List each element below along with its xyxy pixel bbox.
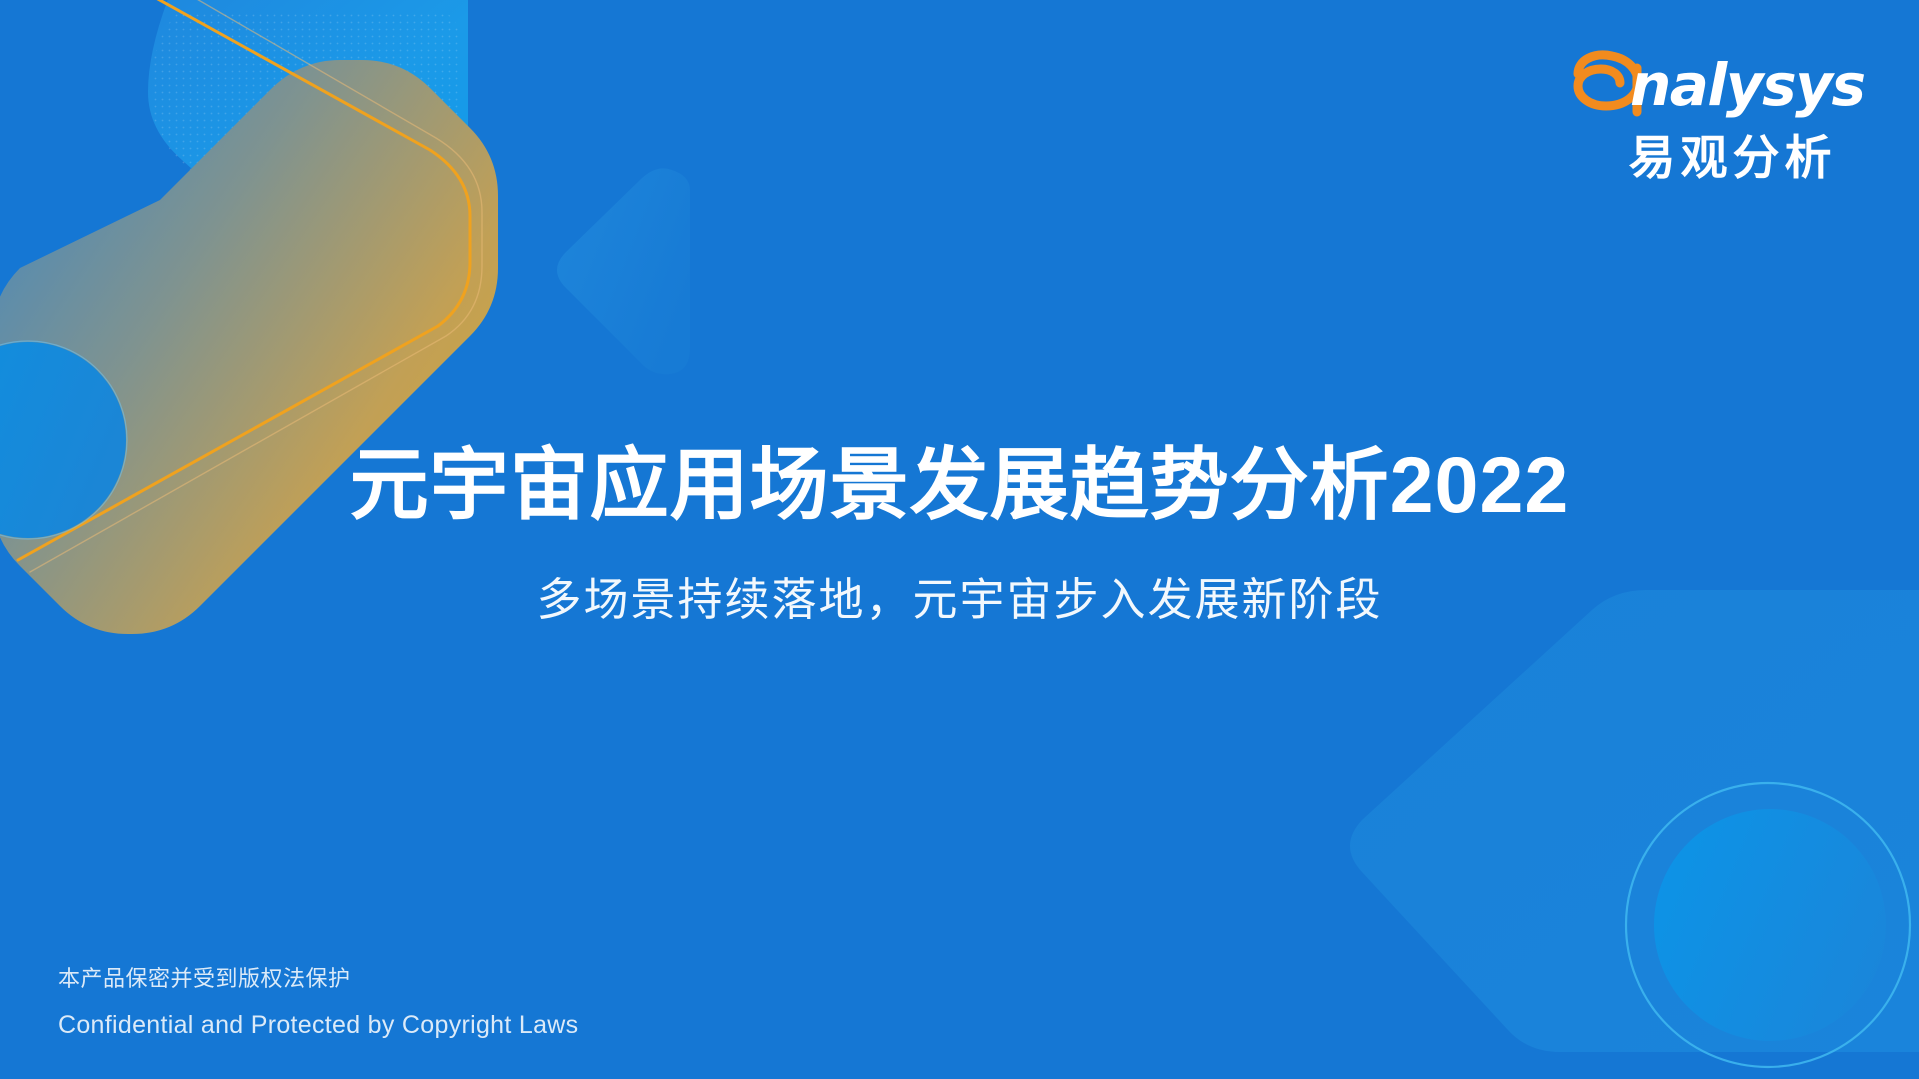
logo-chinese-name: 易观分析: [1560, 132, 1900, 184]
logo-wordmark: nalysys: [1560, 46, 1900, 124]
copyright-footer: 本产品保密并受到版权法保护 Confidential and Protected…: [58, 960, 818, 1044]
page-title: 元宇宙应用场景发展趋势分析2022: [0, 439, 1919, 531]
slide-canvas: nalysys 易观分析 元宇宙应用场景发展趋势分析2022 多场景持续落地，元…: [0, 0, 1919, 1079]
confidential-notice-en: Confidential and Protected by Copyright …: [58, 1006, 818, 1044]
confidential-notice-cn: 本产品保密并受到版权法保护: [58, 960, 818, 998]
analysys-logo: nalysys 易观分析: [1560, 46, 1900, 188]
logo-wordmark-text: nalysys: [1630, 54, 1864, 116]
bottom-right-circle-decor: [1654, 809, 1886, 1041]
page-subtitle: 多场景持续落地，元宇宙步入发展新阶段: [0, 570, 1919, 630]
